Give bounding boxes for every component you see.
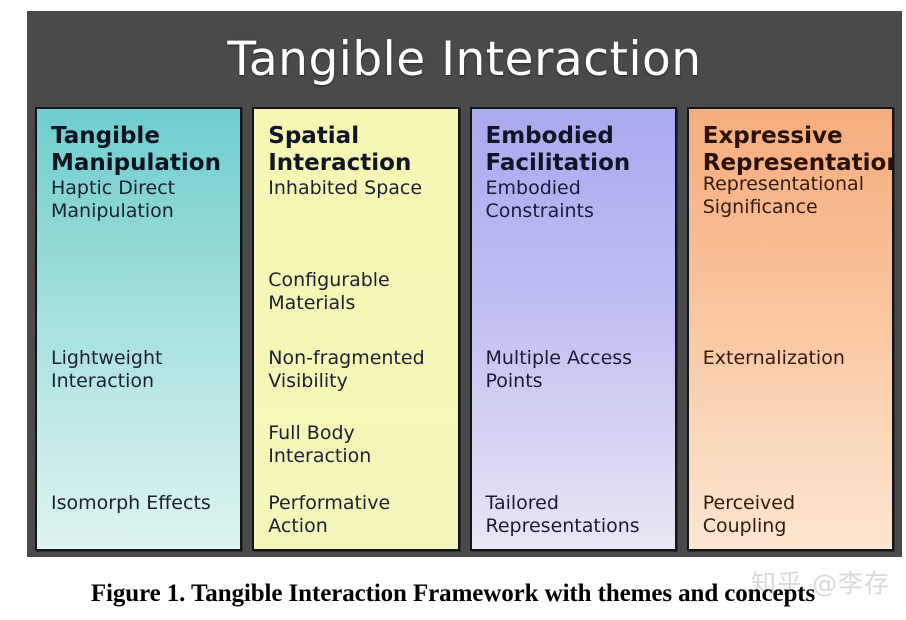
figure-title: Tangible Interaction [27, 11, 902, 107]
figure-caption: Figure 1. Tangible Interaction Framework… [0, 580, 906, 608]
concept-item: Isomorph Effects [51, 492, 232, 515]
theme-column-spatial-interaction[interactable]: Spatial Interaction Inhabited Space Conf… [252, 107, 459, 551]
figure-frame: Tangible Interaction Tangible Manipulati… [27, 11, 902, 557]
theme-column-embodied-facilitation[interactable]: Embodied Facilitation Embodied Constrain… [470, 107, 677, 551]
concept-item: Perceived Coupling [703, 492, 884, 538]
theme-header: Tangible Manipulation [51, 123, 226, 177]
concept-item: Non-fragmented Visibility [268, 347, 449, 393]
concept-item: Tailored Representations [486, 492, 667, 538]
concept-item: Representational Significance [703, 173, 884, 219]
concept-item: Configurable Materials [268, 269, 449, 315]
theme-columns: Tangible Manipulation Haptic Direct Mani… [35, 107, 894, 551]
theme-column-tangible-manipulation[interactable]: Tangible Manipulation Haptic Direct Mani… [35, 107, 242, 551]
concept-item: Embodied Constraints [486, 177, 667, 223]
theme-header: Spatial Interaction [268, 123, 443, 177]
concept-item: Externalization [703, 347, 884, 370]
theme-column-expressive-representation[interactable]: Expressive Representation Representation… [687, 107, 894, 551]
concept-item: Multiple Access Points [486, 347, 667, 393]
concept-item: Inhabited Space [268, 177, 449, 200]
concept-item: Performative Action [268, 492, 449, 538]
concept-item: Haptic Direct Manipulation [51, 177, 232, 223]
theme-header: Expressive Representation [703, 123, 878, 177]
concept-item: Lightweight Interaction [51, 347, 232, 393]
concept-item: Full Body Interaction [268, 422, 449, 468]
theme-header: Embodied Facilitation [486, 123, 661, 177]
